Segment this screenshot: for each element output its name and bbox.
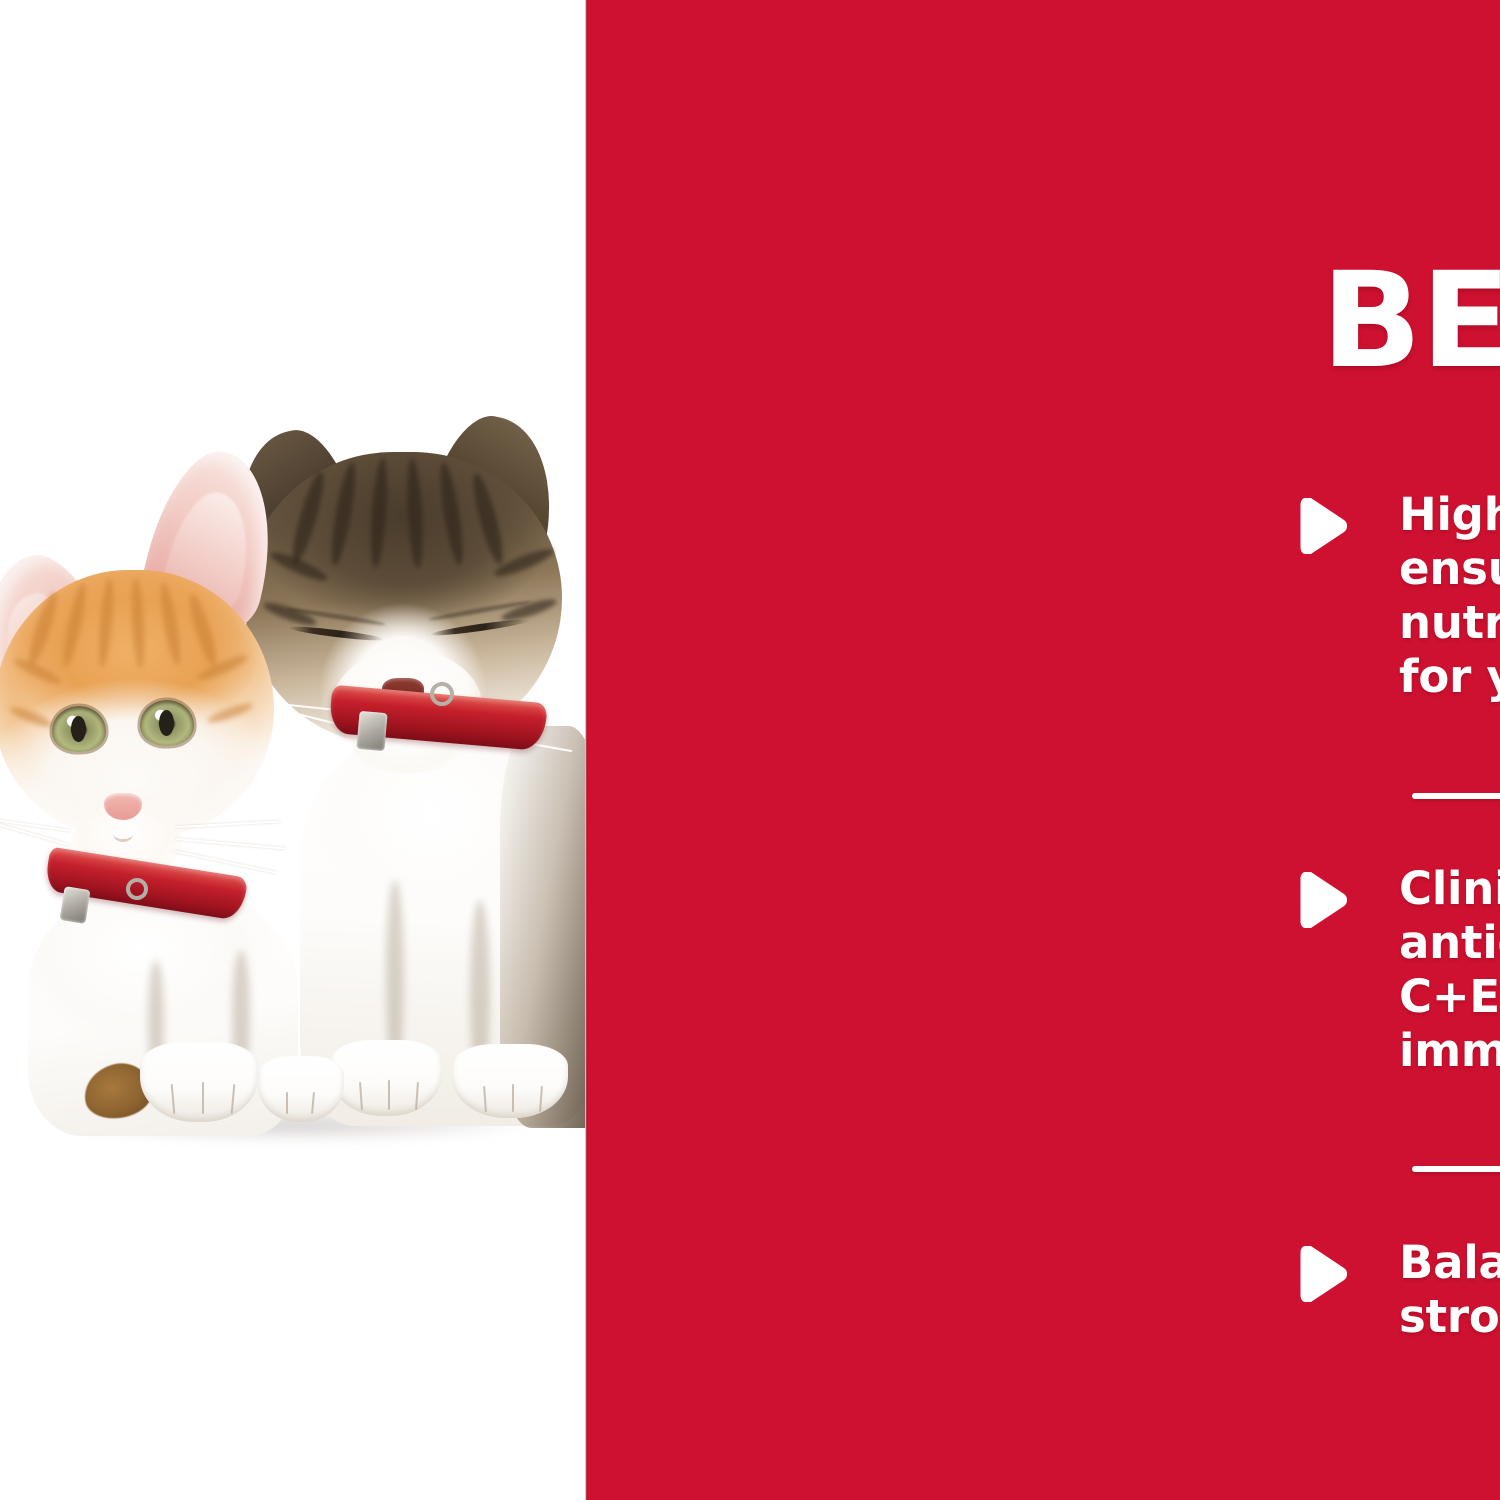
paw-toe-line (388, 1080, 390, 1110)
ginger-kitten-paw-right (258, 1056, 344, 1122)
play-triangle-icon (1297, 498, 1347, 554)
page-title-line-1: KEY (1207, 128, 1500, 257)
paw-toe-line (202, 1082, 204, 1114)
benefit-item: Clinically proven antioxidants, Vitamin … (1297, 862, 1500, 1078)
page-title: KEY BENEFITS (1207, 128, 1500, 387)
section-divider (1412, 1166, 1500, 1172)
benefit-item: Balances minerals for strong bones & tee… (1297, 1236, 1500, 1344)
play-triangle-icon (1297, 1246, 1347, 1302)
kitten-photo-panel (0, 0, 587, 1500)
kitten-photo (0, 0, 587, 1500)
page-title-line-2: BENEFITS (1207, 257, 1500, 386)
ginger-kitten-collar-buckle (60, 886, 91, 924)
benefits-panel: KEY BENEFITS High-quality ingredients en… (587, 0, 1500, 1500)
ginger-kitten-mouth (113, 826, 133, 842)
ginger-kitten-pupil-right (159, 710, 174, 736)
panel-divider-edge (585, 0, 588, 1500)
ginger-kitten-whisker (176, 838, 286, 849)
section-divider (1412, 793, 1500, 799)
benefit-text: Balances minerals for strong bones & tee… (1399, 1236, 1500, 1344)
brown-kitten-paw-right (452, 1044, 568, 1118)
brown-kitten-collar-buckle (356, 711, 387, 751)
ginger-kitten-whisker (0, 824, 68, 846)
benefit-text: High-quality ingredients ensure availibi… (1399, 488, 1500, 704)
ginger-kitten-pupil-left (71, 716, 86, 742)
ginger-kitten-paw-left (140, 1042, 258, 1122)
benefit-text: Clinically proven antioxidants, Vitamin … (1399, 862, 1500, 1078)
key-benefits-banner: KEY BENEFITS High-quality ingredients en… (0, 0, 1500, 1500)
paw-toe-line (512, 1084, 514, 1112)
play-triangle-icon (1297, 872, 1347, 928)
brown-kitten-paw-left (330, 1040, 442, 1116)
benefit-item: High-quality ingredients ensure availibi… (1297, 488, 1500, 704)
paw-toe-line (286, 1092, 288, 1114)
